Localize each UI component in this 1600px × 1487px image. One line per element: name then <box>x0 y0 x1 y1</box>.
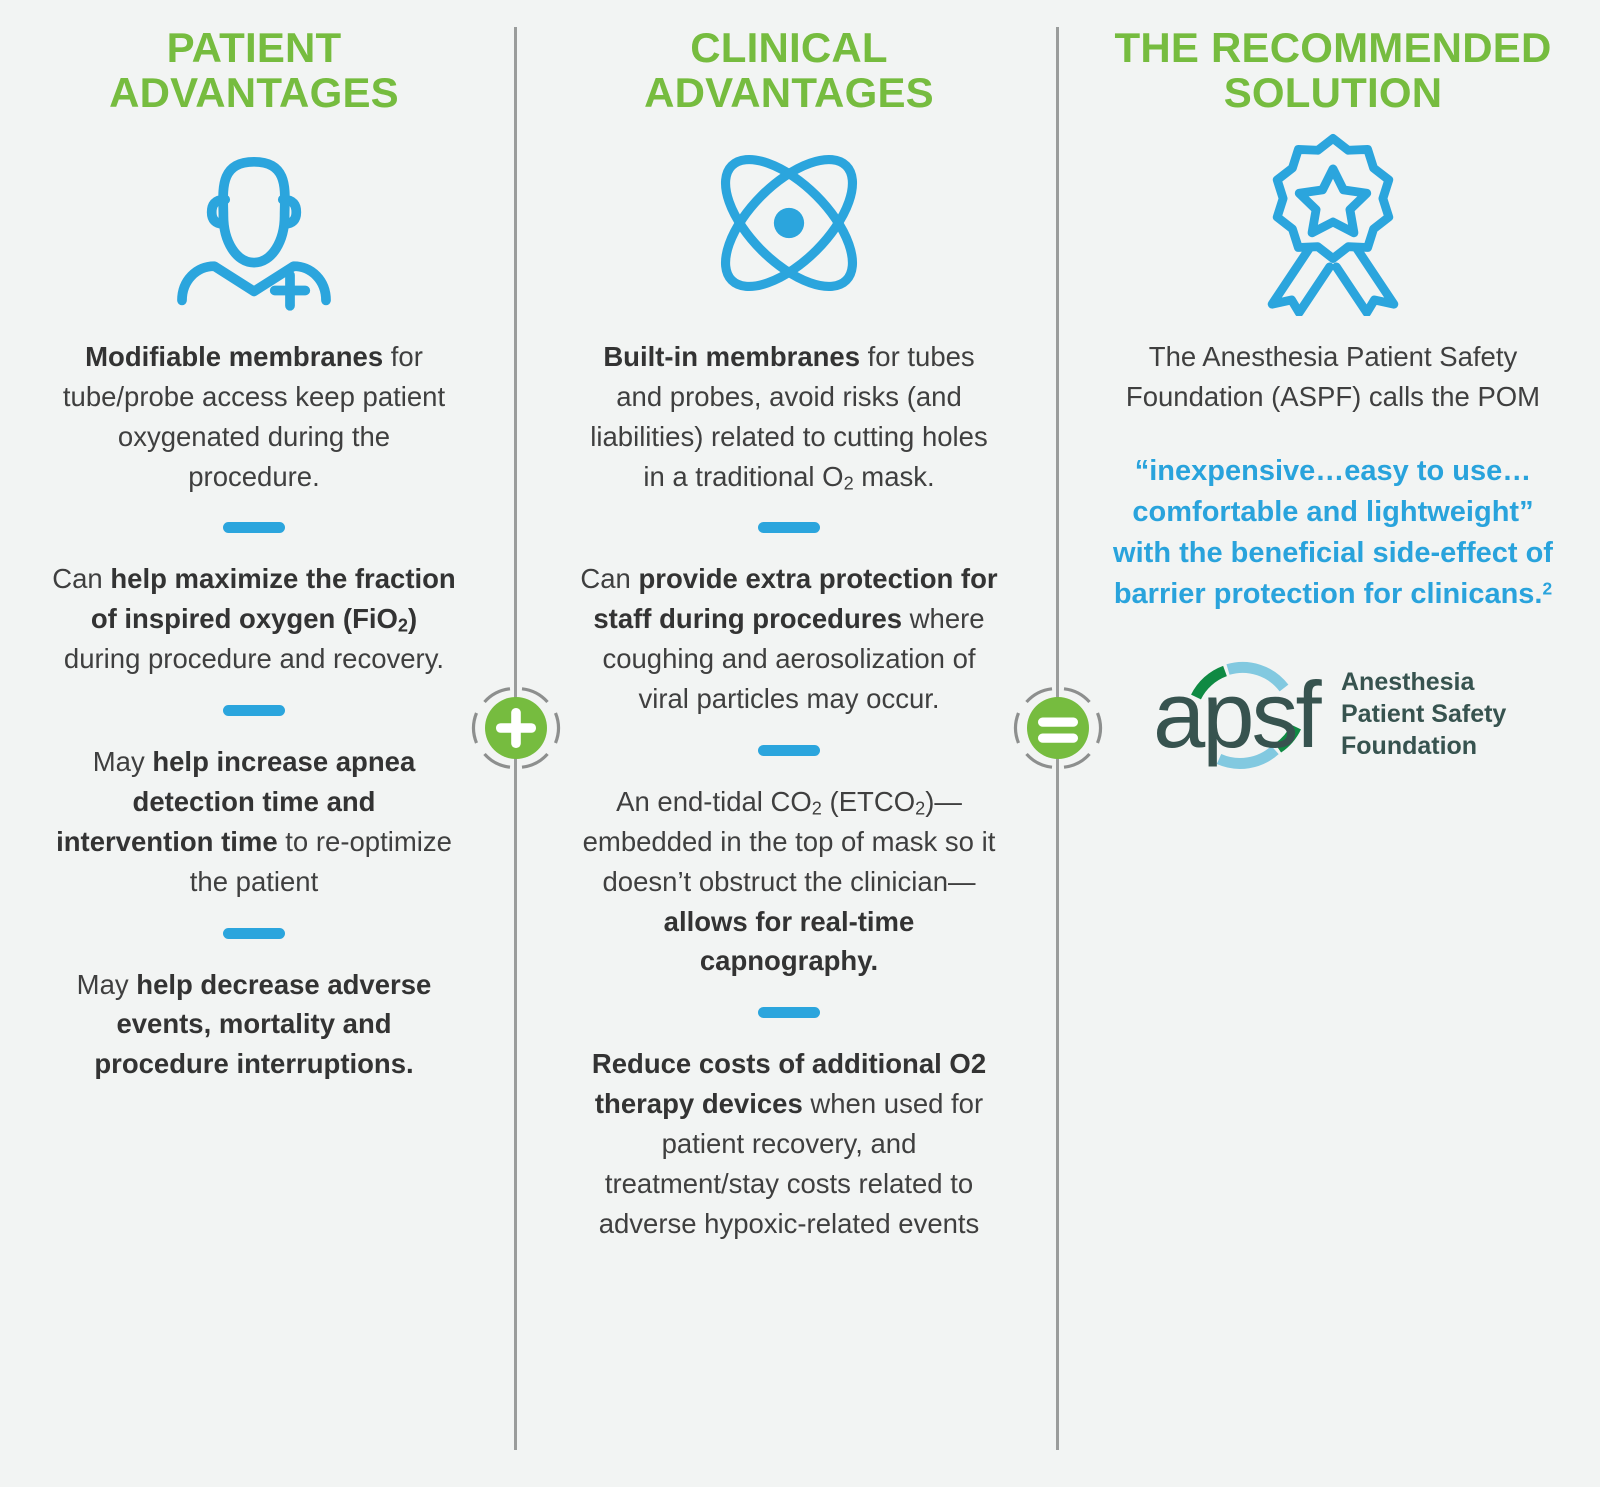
block-separator <box>758 745 820 756</box>
block-decrease-adverse-events: May help decrease adverse events, mortal… <box>52 965 456 1085</box>
column-1-blocks: Modifiable membranes for tube/probe acce… <box>52 337 456 1084</box>
column-3-heading: THE RECOMMENDED SOLUTION <box>1102 26 1564 116</box>
infographic-board: PATIENT ADVANTAGES Modifiable membranes … <box>0 0 1600 1487</box>
apsf-quote: “inexpensive…easy to use…comfortable and… <box>1102 451 1564 616</box>
block-modifiable-membranes: Modifiable membranes for tube/probe acce… <box>52 337 456 497</box>
column-patient-advantages: PATIENT ADVANTAGES Modifiable membranes … <box>0 0 514 1084</box>
patient-with-plus-icon <box>52 116 456 331</box>
column-2-blocks: Built-in membranes for tubes and probes,… <box>578 337 1000 1244</box>
apsf-wordmark: apsf <box>1153 662 1323 767</box>
column-recommended-solution: THE RECOMMENDED SOLUTION The Anesthesia … <box>1056 0 1600 769</box>
block-separator <box>223 522 285 533</box>
block-separator <box>758 1007 820 1018</box>
column-3-blocks: The Anesthesia Patient Safety Foundation… <box>1102 337 1564 769</box>
apsf-line-3: Foundation <box>1341 732 1477 760</box>
award-ribbon-icon <box>1102 116 1564 331</box>
block-reduce-costs: Reduce costs of additional O2 therapy de… <box>578 1044 1000 1243</box>
atom-icon <box>578 116 1000 331</box>
block-separator <box>758 522 820 533</box>
equals-badge <box>1010 680 1106 776</box>
column-1-heading: PATIENT ADVANTAGES <box>52 26 456 116</box>
column-clinical-advantages: CLINICAL ADVANTAGES Built-in membranes f… <box>514 0 1056 1244</box>
block-separator <box>223 928 285 939</box>
apsf-logo: apsf Anesthesia Patient Safety Foundatio… <box>1133 649 1533 769</box>
column-2-heading: CLINICAL ADVANTAGES <box>578 26 1000 116</box>
columns-container: PATIENT ADVANTAGES Modifiable membranes … <box>0 0 1600 1487</box>
plus-badge <box>468 680 564 776</box>
apsf-line-2: Patient Safety <box>1341 700 1506 728</box>
block-end-tidal-co2: An end-tidal CO2 (ETCO2)—embedded in the… <box>578 782 1000 981</box>
recommended-intro-text: The Anesthesia Patient Safety Foundation… <box>1102 337 1564 417</box>
block-apnea-detection-time: May help increase apnea detection time a… <box>52 742 456 902</box>
apsf-line-1: Anesthesia <box>1341 668 1475 696</box>
block-built-in-membranes: Built-in membranes for tubes and probes,… <box>578 337 1000 497</box>
block-separator <box>223 705 285 716</box>
block-fraction-inspired-oxygen: Can help maximize the fraction of inspir… <box>52 559 456 679</box>
block-extra-protection-for-staff: Can provide extra protection for staff d… <box>578 559 1000 719</box>
